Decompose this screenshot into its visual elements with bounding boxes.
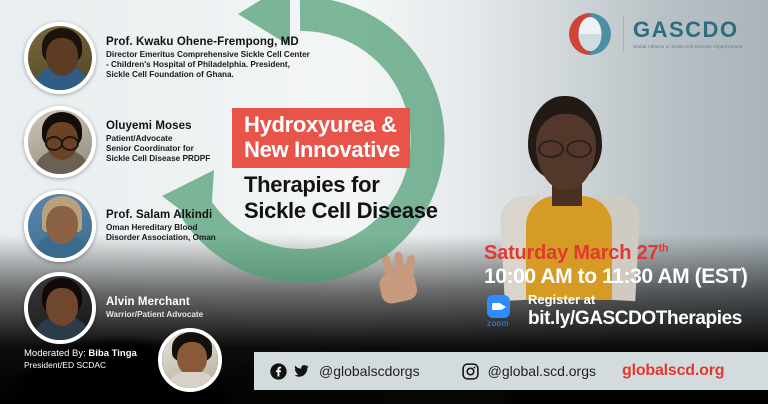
avatar-biba-tinga bbox=[158, 328, 222, 392]
event-date: Saturday March 27th bbox=[484, 243, 747, 264]
website-url[interactable]: globalscd.org bbox=[622, 362, 724, 380]
title-subline: Therapies for Sickle Cell Disease bbox=[232, 172, 492, 223]
logo-tagline: Global Alliance of Sickle Cell Disease O… bbox=[633, 44, 742, 49]
social-handle-fb-tw: @globalscdorgs bbox=[319, 363, 420, 379]
glasses-icon bbox=[45, 136, 79, 147]
title-block: Hydroxyurea & New Innovative Therapies f… bbox=[232, 108, 492, 223]
event-date-suffix: th bbox=[658, 242, 668, 254]
social-handle-ig: @global.scd.orgs bbox=[488, 363, 596, 379]
social-bar: @globalscdorgs @global.scd.orgs globalsc… bbox=[254, 352, 768, 390]
zoom-wordmark: zoom bbox=[476, 319, 520, 328]
speaker-name: Alvin Merchant bbox=[106, 296, 203, 309]
twitter-icon[interactable] bbox=[293, 363, 310, 380]
avatar bbox=[24, 22, 96, 94]
event-datetime: Saturday March 27th 10:00 AM to 11:30 AM… bbox=[484, 243, 747, 289]
speaker-item: Prof. Salam Alkindi Oman Hereditary Bloo… bbox=[24, 190, 216, 262]
speaker-name: Prof. Kwaku Ohene-Frempong, MD bbox=[106, 36, 310, 49]
speaker-role: Oman Hereditary Blood Disorder Associati… bbox=[106, 223, 216, 244]
title-highlight: Hydroxyurea & New Innovative bbox=[232, 108, 410, 168]
logo-name: GASCDO bbox=[633, 19, 742, 41]
webinar-flyer: Prof. Kwaku Ohene-Frempong, MD Director … bbox=[0, 0, 768, 404]
moderator-name: Biba Tinga bbox=[88, 348, 136, 359]
register-block[interactable]: zoom Register at bit.ly/GASCDOTherapies bbox=[476, 292, 742, 329]
social-group-fb-tw: @globalscdorgs bbox=[270, 363, 420, 380]
moderator-line: Moderated By: Biba Tinga bbox=[24, 348, 137, 360]
speaker-role: Director Emeritus Comprehensive Sickle C… bbox=[106, 50, 310, 81]
moderator-block: Moderated By: Biba Tinga President/ED SC… bbox=[24, 348, 137, 371]
event-date-text: Saturday March 27 bbox=[484, 242, 658, 264]
speaker-item: Oluyemi Moses Patient/Advocate Senior Co… bbox=[24, 106, 210, 178]
facebook-icon[interactable] bbox=[270, 363, 287, 380]
speaker-role: Warrior/Patient Advocate bbox=[106, 310, 203, 320]
event-time: 10:00 AM to 11:30 AM (EST) bbox=[484, 265, 747, 289]
register-label: Register at bbox=[528, 292, 742, 308]
register-url[interactable]: bit.ly/GASCDOTherapies bbox=[528, 308, 742, 330]
speaker-role: Patient/Advocate Senior Coordinator for … bbox=[106, 134, 210, 165]
zoom-camera-icon bbox=[487, 295, 510, 318]
instagram-icon[interactable] bbox=[462, 363, 479, 380]
speaker-item: Prof. Kwaku Ohene-Frempong, MD Director … bbox=[24, 22, 310, 94]
avatar bbox=[24, 272, 96, 344]
speaker-name: Oluyemi Moses bbox=[106, 120, 210, 133]
speaker-name: Prof. Salam Alkindi bbox=[106, 209, 216, 222]
social-group-ig: @global.scd.orgs bbox=[462, 363, 596, 380]
moderated-by-label: Moderated By: bbox=[24, 348, 88, 359]
zoom-logo: zoom bbox=[476, 295, 520, 328]
gascdo-logo: GASCDO Global Alliance of Sickle Cell Di… bbox=[566, 10, 742, 58]
avatar bbox=[24, 190, 96, 262]
avatar bbox=[24, 106, 96, 178]
gascdo-logo-mark-icon bbox=[566, 10, 614, 58]
logo-divider bbox=[623, 17, 624, 51]
moderator-role: President/ED SCDAC bbox=[24, 360, 137, 371]
